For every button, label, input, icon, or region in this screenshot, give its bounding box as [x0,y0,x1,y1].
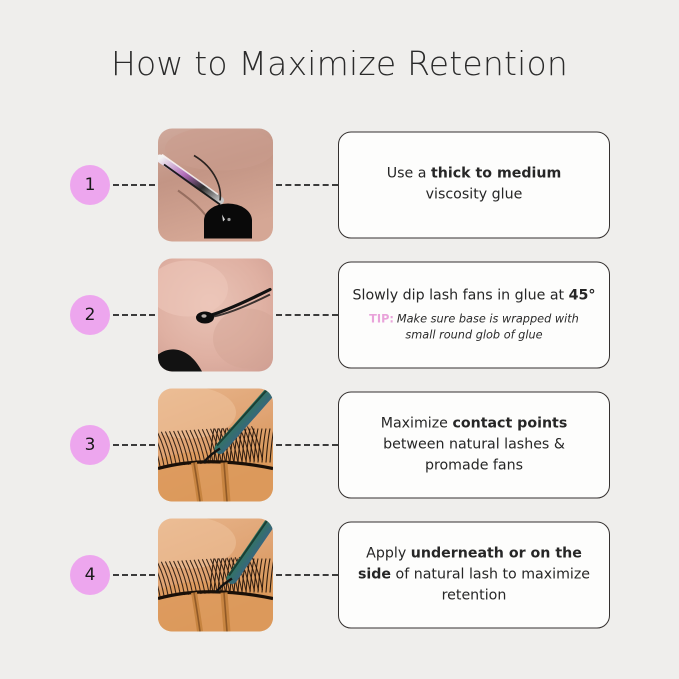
tip-text: small round glob of glue [405,329,542,342]
step-text-card: Maximize contact pointsbetween natural l… [338,391,610,498]
tip-line: small round glob of glue [369,328,579,344]
connector-line-left [113,184,155,186]
connector-line-left [113,314,155,316]
step-row: 4 App [0,518,679,631]
card-text-line: Use a thick to medium [387,164,562,185]
step-number-badge-2: 2 [70,295,110,335]
page-title: How to Maximize Retention [0,44,679,83]
tip-label: TIP: [369,313,394,326]
card-text-line: retention [358,585,590,606]
plain-text: promade fans [425,457,523,473]
tip-block: TIP:Make sure base is wrapped withsmall … [369,312,579,344]
step-text-card: Use a thick to mediumviscosity glue [338,131,610,238]
step-thumbnail-lash-extension-contact-points-macro [158,388,273,501]
emphasis-text: thick to medium [431,166,561,182]
plain-text: Slowly dip lash fans in glue at [353,288,569,304]
plain-text: viscosity glue [426,187,523,203]
step-row: 3 Max [0,388,679,501]
plain-text: between natural lashes & [383,436,565,452]
card-body: Slowly dip lash fans in glue at 45° [353,286,596,307]
step-thumbnail-lash-fan-dipped-in-glue-closeup [158,258,273,371]
emphasis-text: 45° [569,288,596,304]
connector-line-left [113,574,155,576]
tip-text: Make sure base is wrapped with [397,313,579,326]
card-body: Apply underneath or on theside of natura… [358,543,590,606]
step-text-card: Slowly dip lash fans in glue at 45°TIP:M… [338,261,610,368]
step-row: 1 [0,128,679,241]
emphasis-text: side [358,566,391,582]
step-number-badge-4: 4 [70,555,110,595]
step-row: 2 Slowly dip lash fans in glue at 45°TIP… [0,258,679,371]
step-thumbnail-lash-applied-underneath-natural-lash-macro [158,518,273,631]
tip-line: TIP:Make sure base is wrapped with [369,312,579,328]
connector-line-right [276,574,338,576]
card-text-line: between natural lashes & [381,434,568,455]
card-text-line: Maximize contact points [381,413,568,434]
card-body: Use a thick to mediumviscosity glue [387,164,562,206]
card-text-line: side of natural lash to maximize [358,564,590,585]
connector-line-left [113,444,155,446]
step-number-badge-3: 3 [70,425,110,465]
card-text-line: promade fans [381,455,568,476]
plain-text: of natural lash to maximize [391,566,590,582]
plain-text: Use a [387,166,431,182]
connector-line-right [276,444,338,446]
plain-text: Apply [366,545,411,561]
card-text-line: viscosity glue [387,185,562,206]
emphasis-text: underneath or on the [411,545,582,561]
emphasis-text: contact points [452,415,567,431]
step-number-badge-1: 1 [70,165,110,205]
steps-list: 1 [0,128,679,648]
connector-line-right [276,184,338,186]
card-text-line: Apply underneath or on the [358,543,590,564]
step-text-card: Apply underneath or on theside of natura… [338,521,610,628]
plain-text: retention [442,587,507,603]
card-body: Maximize contact pointsbetween natural l… [381,413,568,476]
card-text-line: Slowly dip lash fans in glue at 45° [353,286,596,307]
connector-line-right [276,314,338,316]
plain-text: Maximize [381,415,453,431]
step-thumbnail-tweezers-holding-lash-with-glue-drop-on-skin [158,128,273,241]
